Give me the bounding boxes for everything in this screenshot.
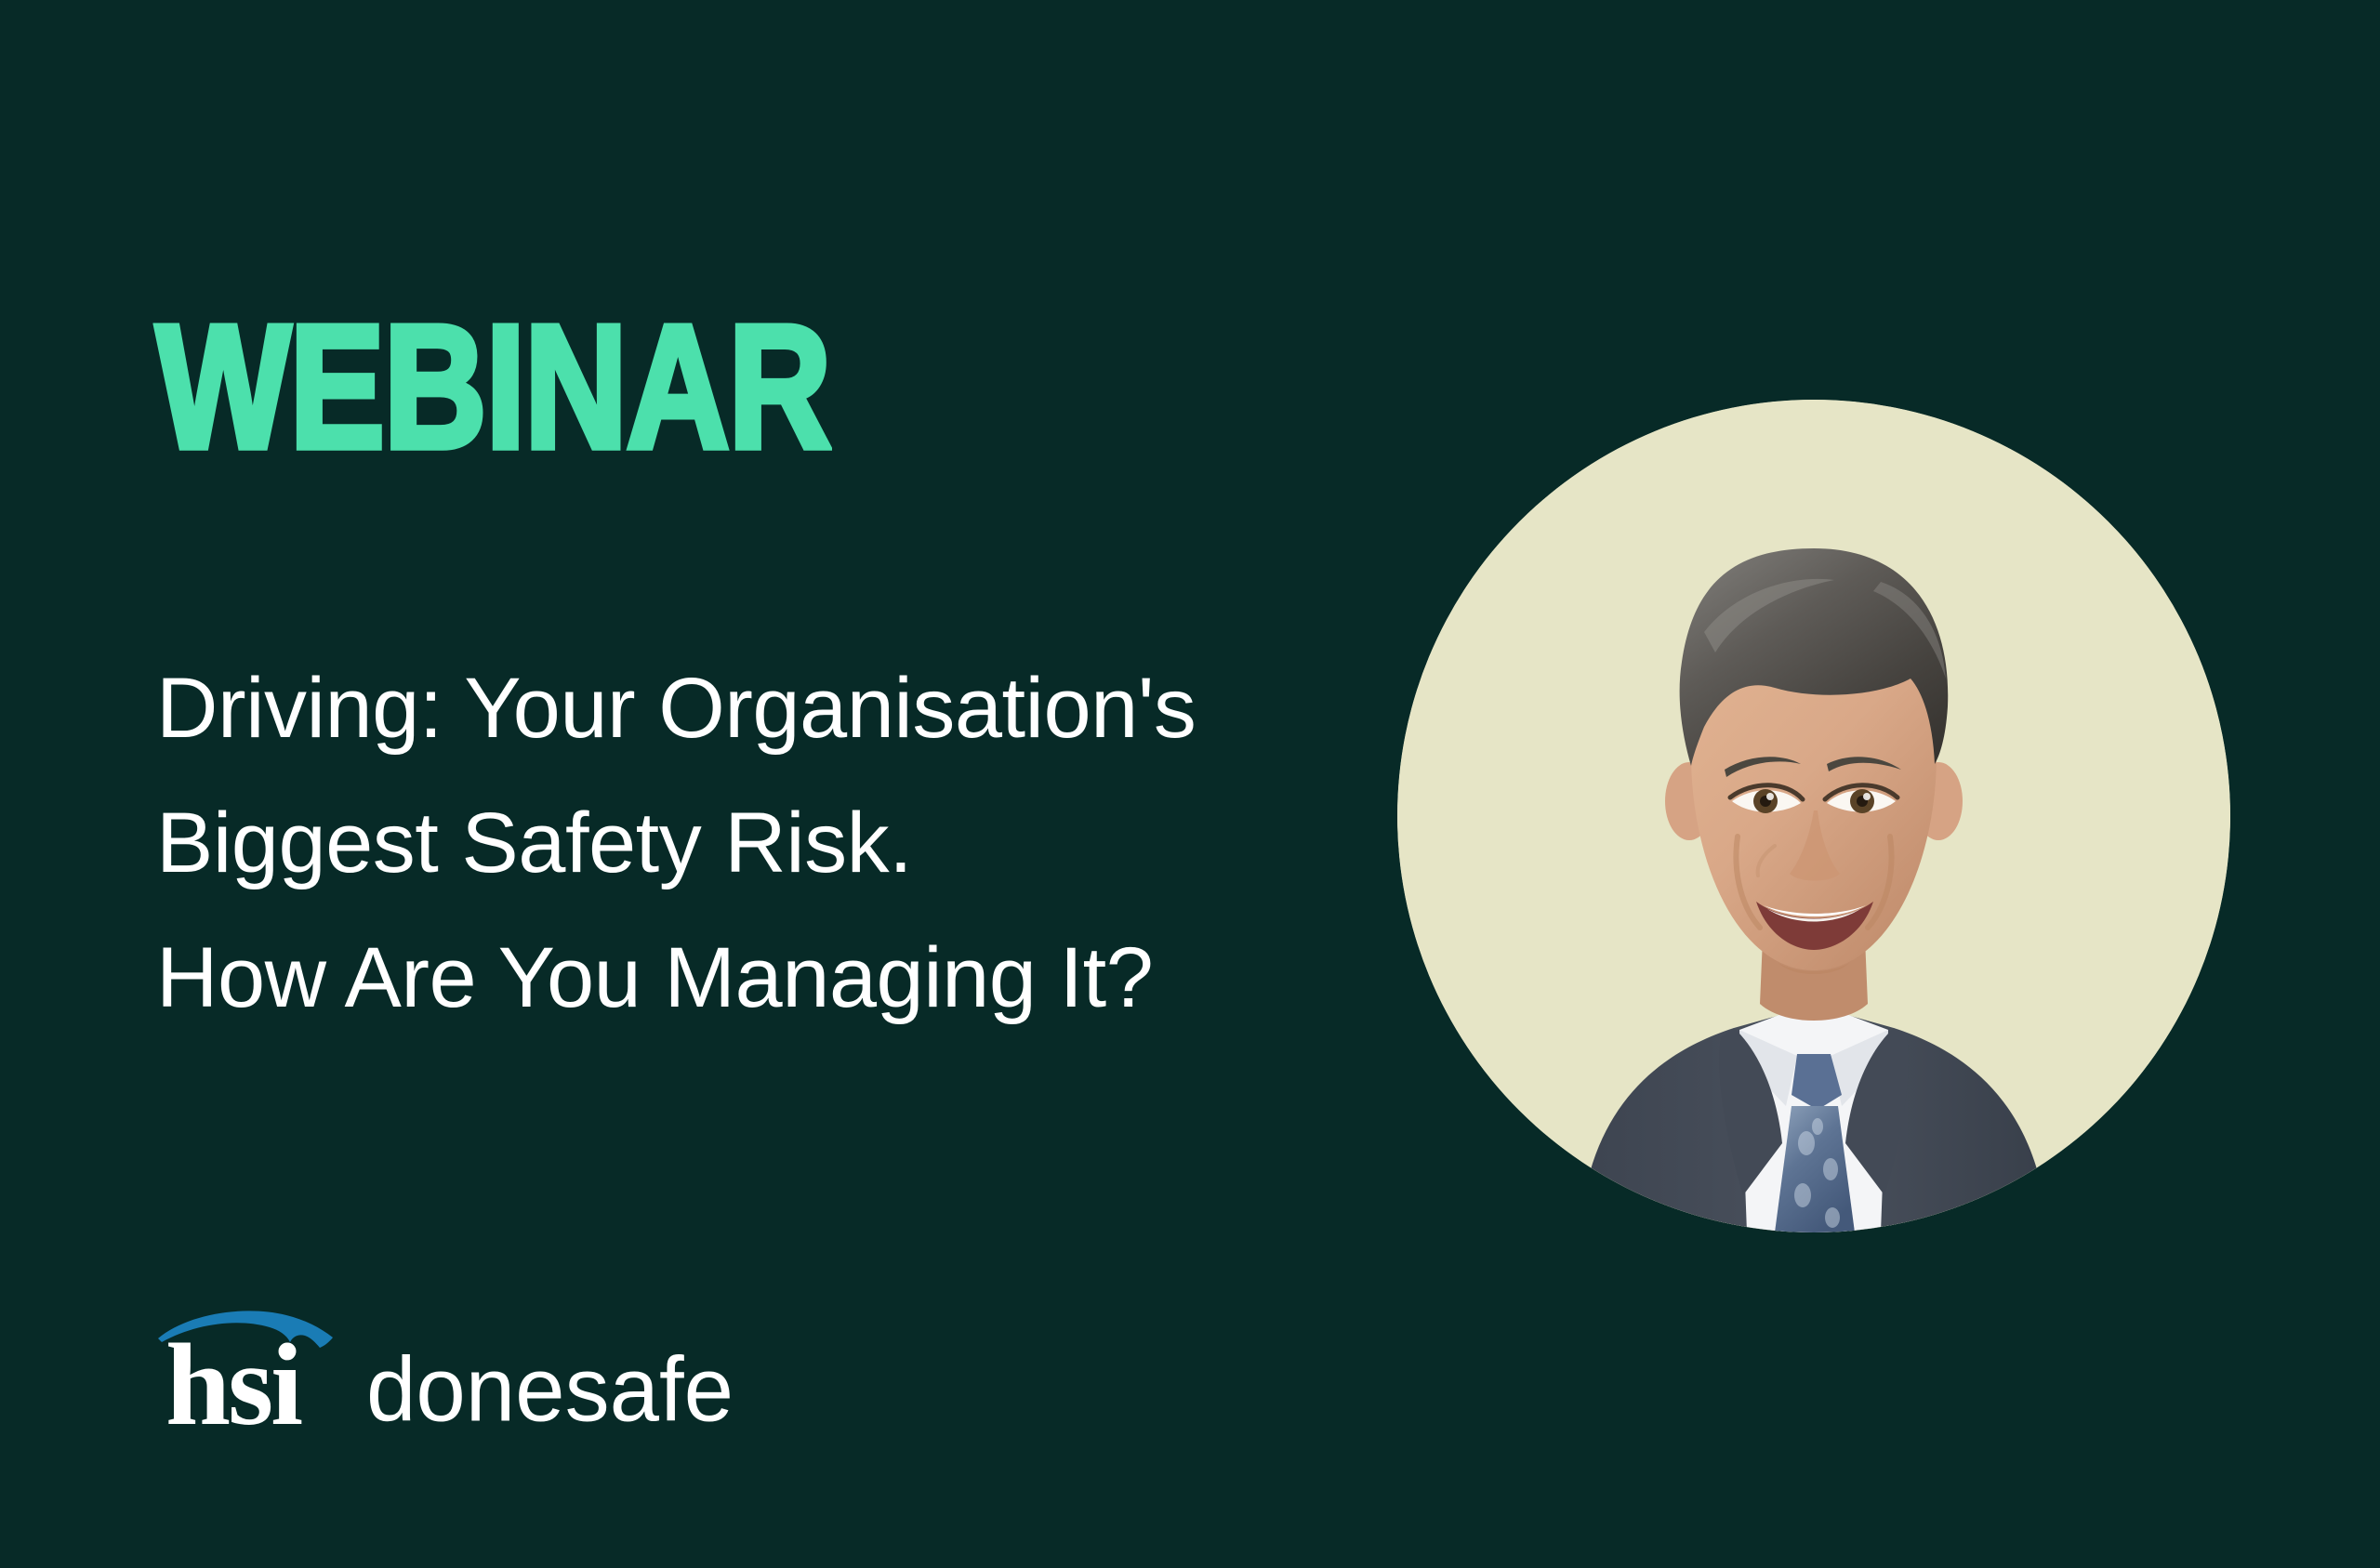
headline-line-1: Driving: Your Organisation's (156, 641, 1365, 776)
speaker-portrait-illustration (1397, 400, 2230, 1232)
hsi-donesafe-logo: hsi donesafe (156, 1299, 734, 1448)
headline-line-3: How Are You Managing It? (156, 911, 1365, 1046)
donesafe-wordmark-text: donesafe (366, 1345, 734, 1436)
hsi-logo-mark: hsi (156, 1307, 335, 1448)
webinar-promo-slide: WEBINAR Driving: Your Organisation's Big… (0, 0, 2380, 1568)
headline-line-2: Biggest Safety Risk. (156, 776, 1365, 911)
content-column: WEBINAR Driving: Your Organisation's Big… (156, 0, 1318, 1568)
hsi-wordmark-text: hsi (165, 1327, 300, 1444)
headline: Driving: Your Organisation's Biggest Saf… (156, 641, 1365, 1046)
speaker-portrait (1397, 400, 2230, 1232)
eyebrow-webinar-label: WEBINAR (156, 299, 830, 475)
